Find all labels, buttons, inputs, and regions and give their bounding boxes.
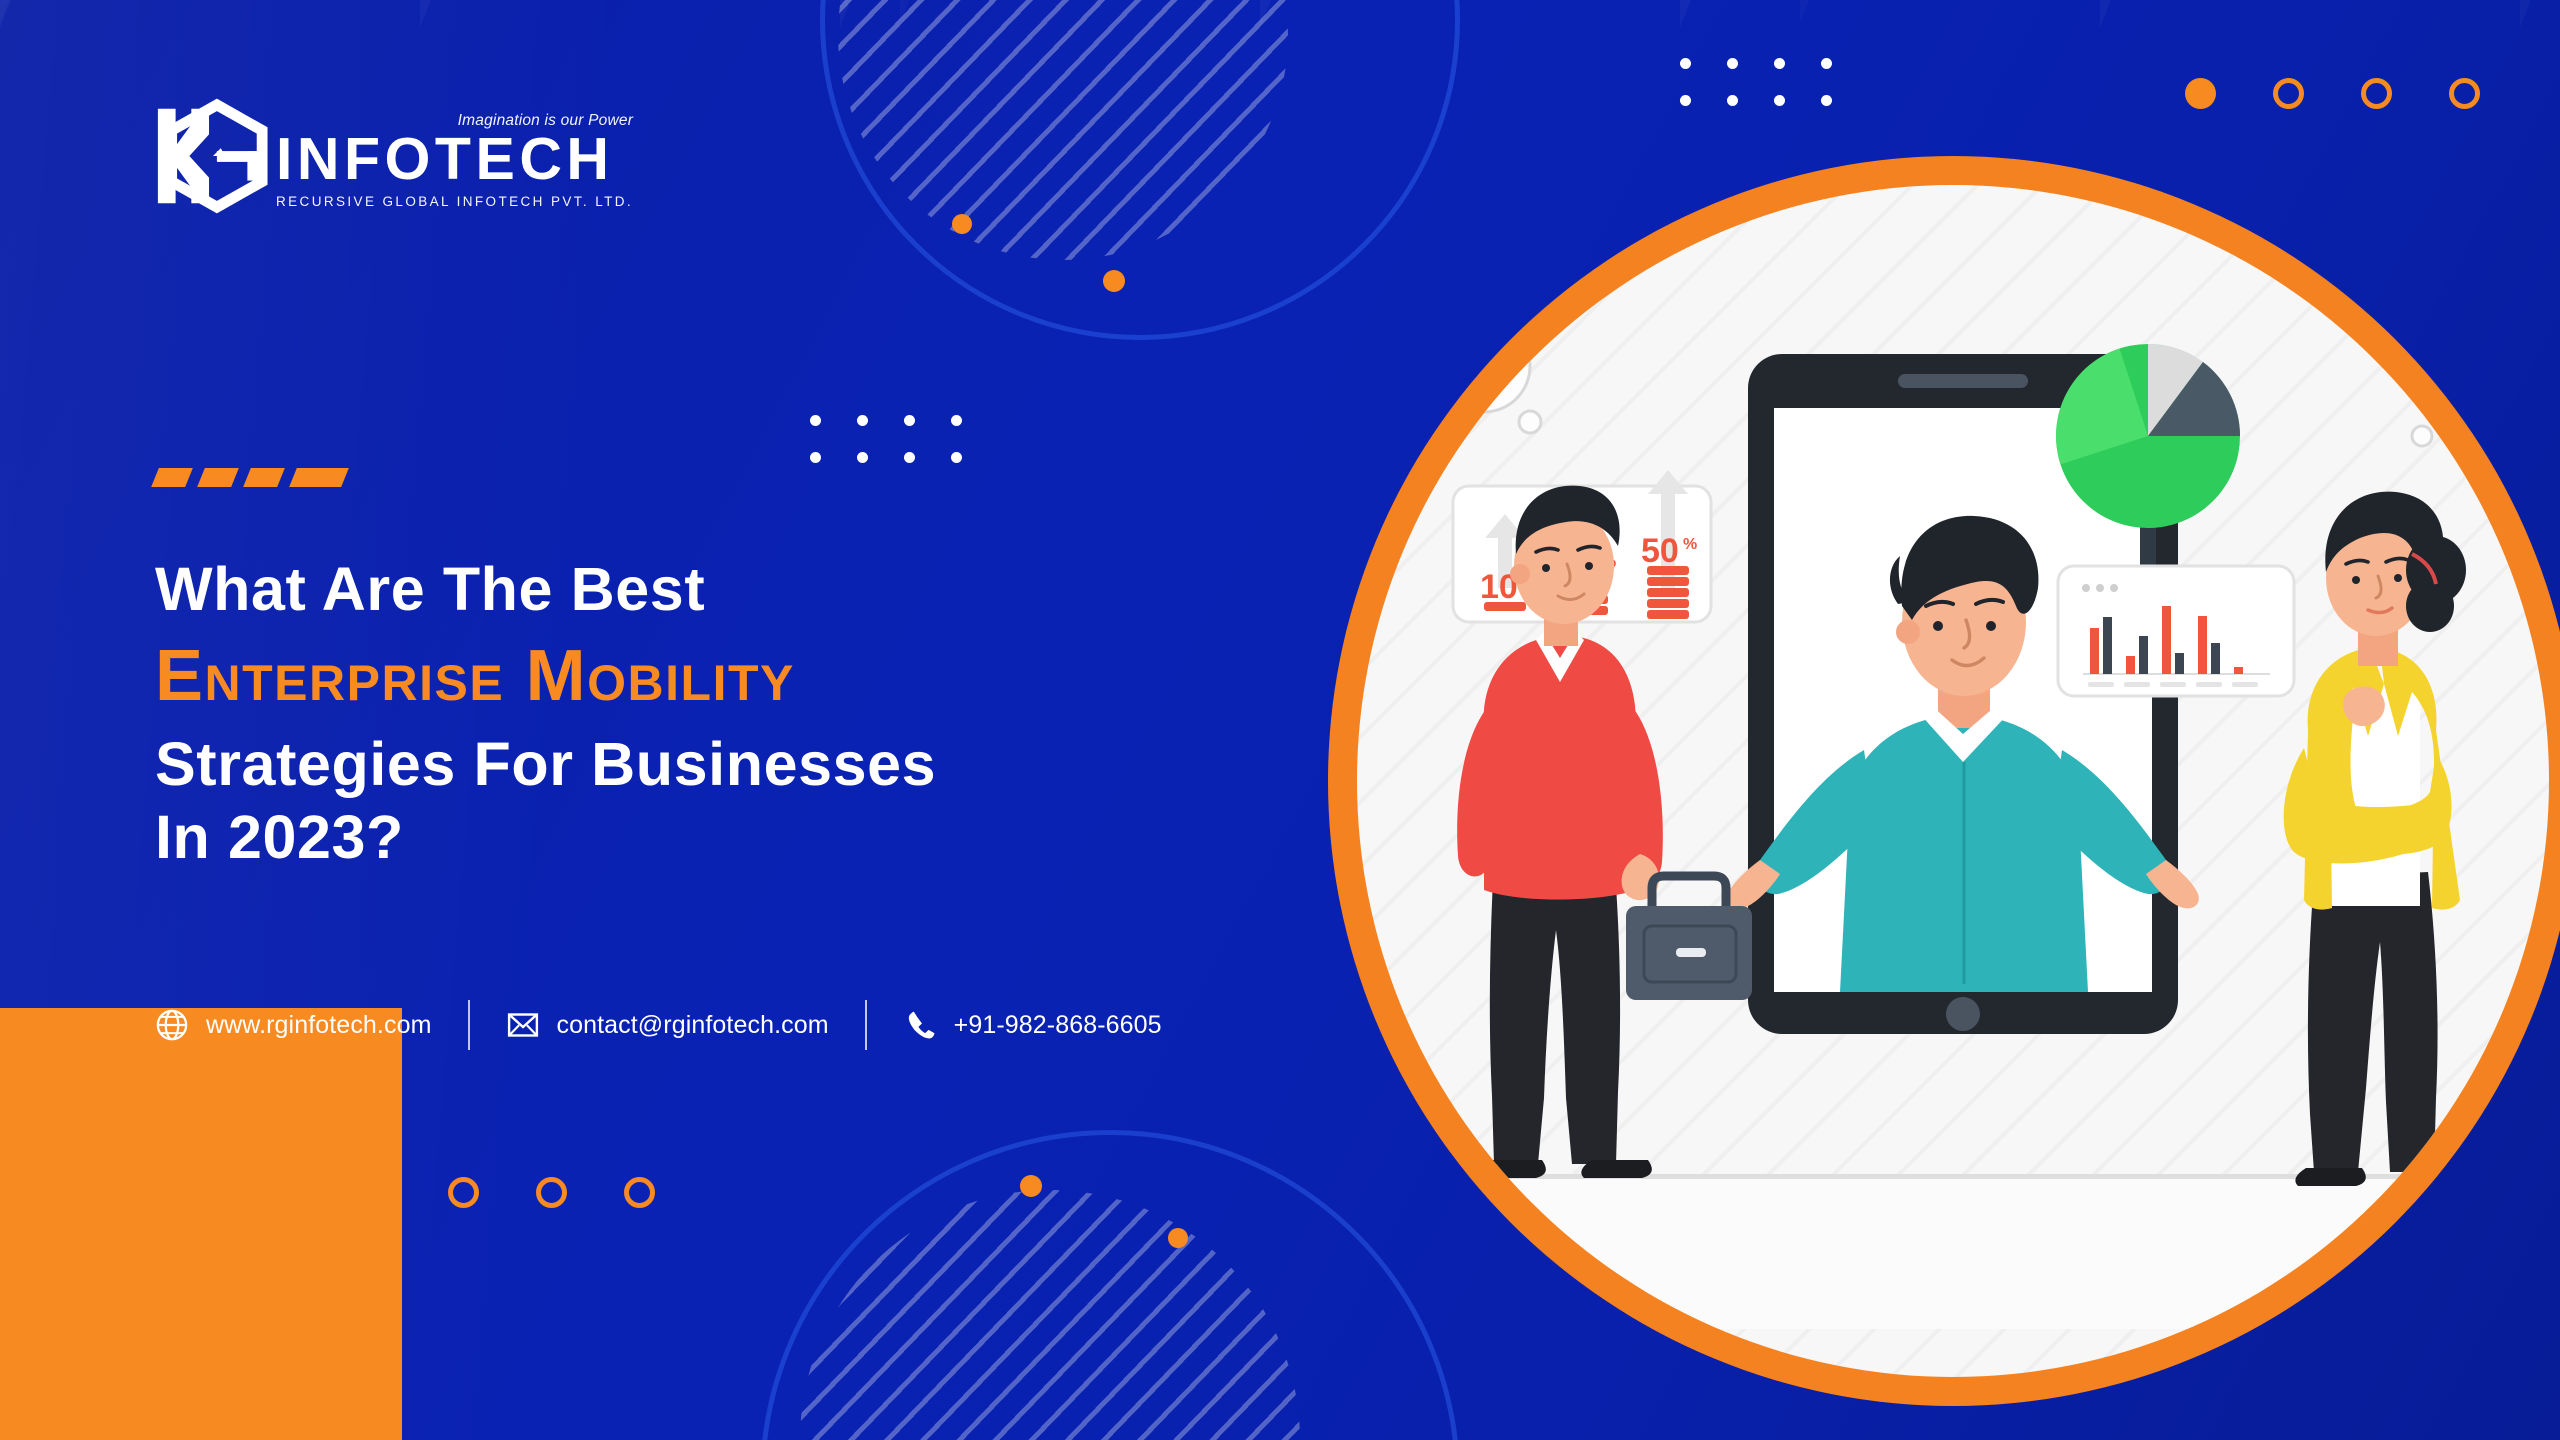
dot-ring [2449,78,2480,109]
decor-orange-dot [1103,270,1125,292]
dot-ring [536,1177,567,1208]
dot-grid-top [1680,58,1832,106]
phone-icon [903,1008,937,1042]
phone-text: +91-982-868-6605 [954,1011,1162,1040]
brand-logo[interactable]: Imagination is our Power INFOTECH RECURS… [152,97,633,215]
svg-text:50: 50 [1641,532,1679,570]
rg-hexagon-logo-icon [152,97,270,215]
dot-grid-middle [810,415,962,463]
top-right-dot-row [2185,78,2480,109]
bar-chart-widget [2058,566,2294,696]
enterprise-mobility-team-illustration: 10% 25% 50% [1308,136,2560,1426]
headline-line-4: In 2023? [155,801,1335,874]
contact-email[interactable]: contact@rginfotech.com [506,1008,829,1042]
dot-ring [2273,78,2304,109]
dot-ring [2361,78,2392,109]
contact-bar: www.rginfotech.com contact@rginfotech.co… [155,1000,1162,1050]
svg-text:?: ? [2453,362,2482,415]
headline-line-2-highlight: Enterprise Mobility [155,634,1335,719]
logo-tagline: Imagination is our Power [458,112,633,130]
globe-icon [155,1008,189,1042]
website-text: www.rginfotech.com [206,1011,432,1040]
headline-line-3: Strategies For Businesses [155,728,1335,801]
contact-phone[interactable]: +91-982-868-6605 [903,1008,1162,1042]
decor-orange-dot [952,214,972,234]
hero-text-block: What Are The Best Enterprise Mobility St… [155,468,1335,875]
contact-divider [865,1000,867,1050]
decor-orange-dot [1020,1175,1042,1197]
contact-divider [468,1000,470,1050]
logo-legal-name: RECURSIVE GLOBAL INFOTECH PVT. LTD. [276,194,633,209]
accent-bars [155,468,1335,487]
bottom-left-dot-row [360,1177,655,1208]
headline-line-1: What Are The Best [155,555,1335,623]
logo-wordmark: INFOTECH [276,131,633,187]
orange-blob-shape [0,1008,402,1440]
dot-filled [2185,78,2216,109]
contact-website[interactable]: www.rginfotech.com [155,1008,432,1042]
banner-canvas: Imagination is our Power INFOTECH RECURS… [0,0,2560,1440]
decor-orange-dot [1168,1228,1188,1248]
dot-ring [624,1177,655,1208]
svg-text:%: % [1683,536,1697,553]
envelope-icon [506,1008,540,1042]
dot-ring [448,1177,479,1208]
email-text: contact@rginfotech.com [557,1011,829,1040]
